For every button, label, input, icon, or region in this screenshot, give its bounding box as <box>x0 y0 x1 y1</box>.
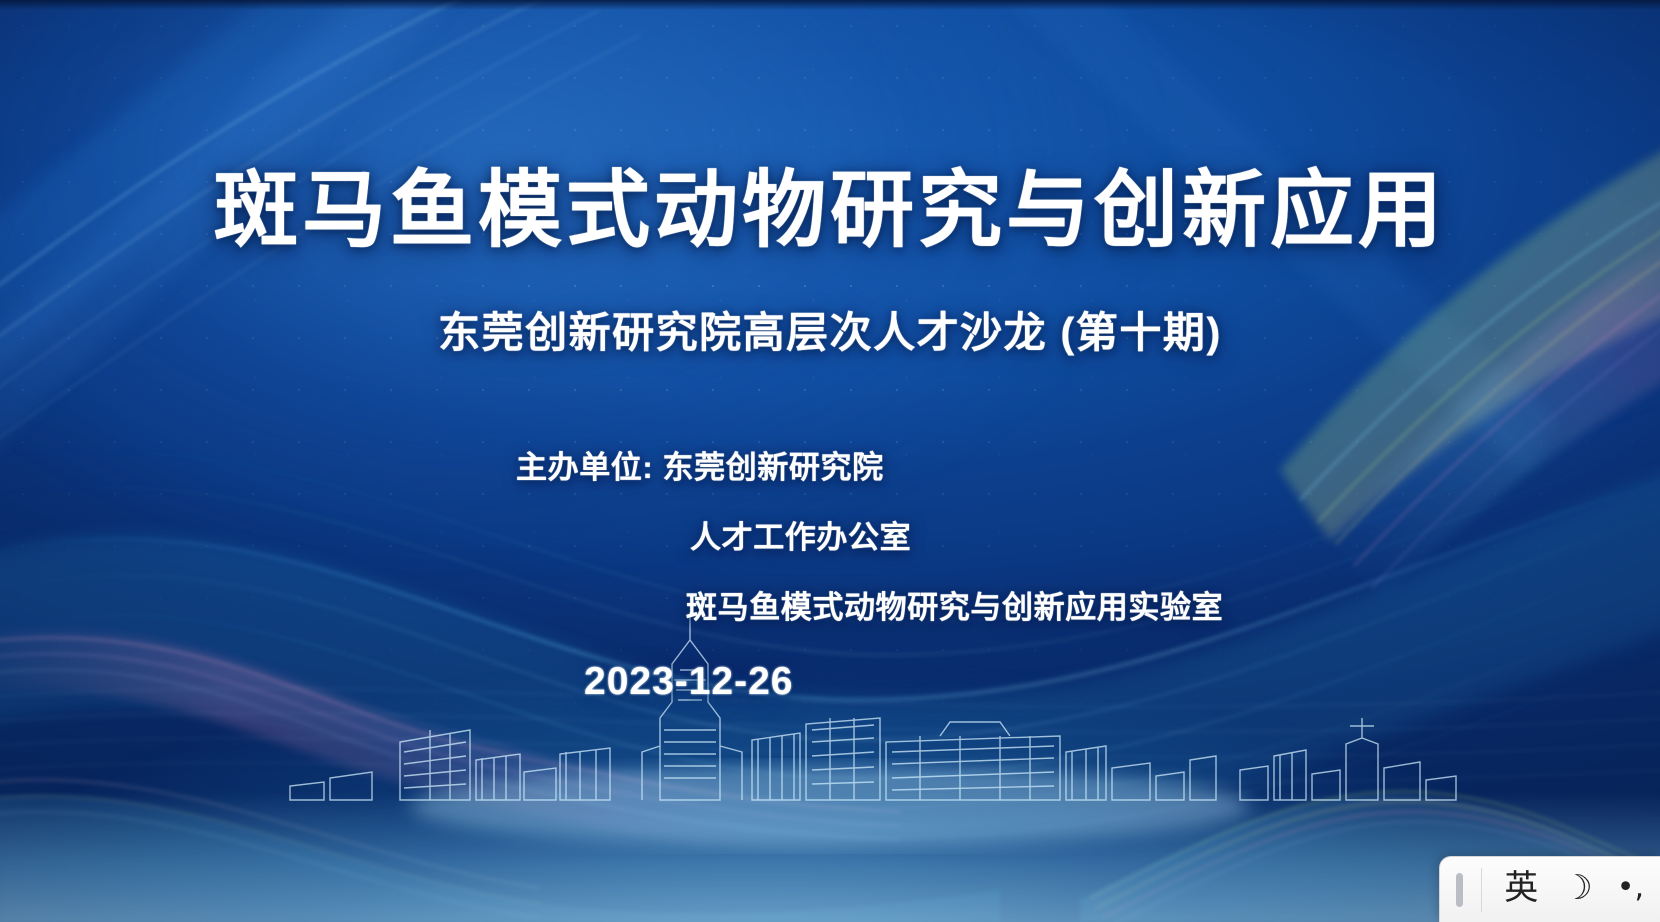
language-mode-button[interactable]: 英 <box>1492 869 1550 911</box>
page-subtitle: 东莞创新研究院高层次人才沙龙 (第十期) <box>0 312 1660 354</box>
punctuation-mode-button[interactable]: •, <box>1605 871 1656 909</box>
slide-text-content: 斑马鱼模式动物研究与创新应用 东莞创新研究院高层次人才沙龙 (第十期) 主办单位… <box>0 0 1660 922</box>
credit-office: 人才工作办公室 <box>690 522 911 553</box>
event-date: 2023-12-26 <box>584 662 794 701</box>
credit-laboratory: 斑马鱼模式动物研究与创新应用实验室 <box>686 592 1223 623</box>
ime-toolbar[interactable]: 英 ☽ •, <box>1439 856 1660 922</box>
slide-canvas: 斑马鱼模式动物研究与创新应用 东莞创新研究院高层次人才沙龙 (第十期) 主办单位… <box>0 0 1660 922</box>
moon-icon[interactable]: ☽ <box>1550 869 1604 911</box>
page-title: 斑马鱼模式动物研究与创新应用 <box>0 168 1660 252</box>
ime-drag-handle[interactable] <box>1456 873 1463 907</box>
credit-organizer: 主办单位: 东莞创新研究院 <box>516 452 884 483</box>
ime-divider <box>1481 868 1482 912</box>
